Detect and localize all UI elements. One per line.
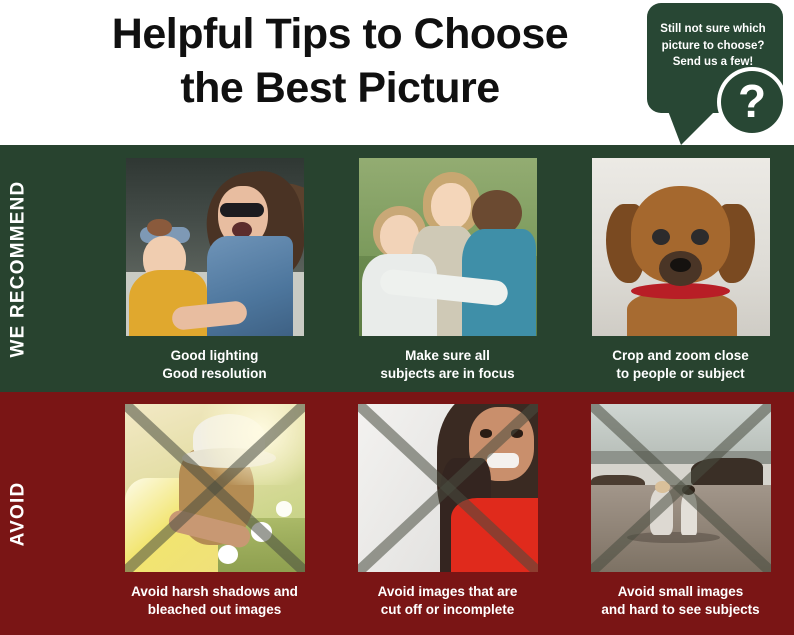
caption-line-2: bleached out images bbox=[110, 601, 320, 619]
recommend-card-2: Make sure all subjects are in focus bbox=[335, 145, 560, 392]
photo-girl-in-sunny-field bbox=[125, 404, 305, 572]
recommend-card-1: Good lighting Good resolution bbox=[102, 145, 327, 392]
section-avoid: AVOID Avoid harsh sha bbox=[0, 392, 794, 635]
avoid-caption-1: Avoid harsh shadows and bleached out ima… bbox=[110, 583, 320, 619]
caption-line-2: and hard to see subjects bbox=[576, 601, 786, 619]
speech-bubble-line-3: Send us a few! bbox=[653, 54, 773, 71]
caption-line-1: Avoid small images bbox=[576, 583, 786, 601]
caption-line-2: cut off or incomplete bbox=[343, 601, 553, 619]
recommend-card-3: Crop and zoom close to people or subject bbox=[568, 145, 793, 392]
avoid-card-3: Avoid small images and hard to see subje… bbox=[568, 392, 793, 635]
section-we-recommend: WE RECOMMEND Good lighting Good res bbox=[0, 145, 794, 392]
infographic-page: Helpful Tips to Choose the Best Picture … bbox=[0, 0, 794, 635]
photo-mother-and-baby bbox=[126, 158, 304, 336]
recommend-caption-1: Good lighting Good resolution bbox=[110, 347, 320, 383]
header: Helpful Tips to Choose the Best Picture … bbox=[0, 0, 794, 145]
speech-bubble-callout: Still not sure which picture to choose? … bbox=[645, 3, 790, 143]
caption-line-2: subjects are in focus bbox=[343, 365, 553, 383]
avoid-card-row: Avoid harsh shadows and bleached out ima… bbox=[36, 392, 794, 635]
photo-puppy bbox=[592, 158, 770, 336]
caption-line-1: Make sure all bbox=[343, 347, 553, 365]
page-title-line-2: the Best Picture bbox=[40, 62, 640, 116]
page-title: Helpful Tips to Choose the Best Picture bbox=[40, 8, 640, 116]
photo-three-children-hugging bbox=[359, 158, 537, 336]
speech-bubble-line-1: Still not sure which bbox=[653, 21, 773, 38]
caption-line-1: Avoid images that are bbox=[343, 583, 553, 601]
rail-label-we-recommend: WE RECOMMEND bbox=[0, 145, 36, 392]
recommend-caption-3: Crop and zoom close to people or subject bbox=[576, 347, 786, 383]
question-mark-icon: ? bbox=[721, 71, 783, 133]
question-mark-glyph: ? bbox=[721, 71, 783, 133]
rail-label-avoid: AVOID bbox=[0, 392, 36, 635]
recommend-card-row: Good lighting Good resolution bbox=[36, 145, 794, 392]
caption-line-1: Crop and zoom close bbox=[576, 347, 786, 365]
page-title-line-1: Helpful Tips to Choose bbox=[40, 8, 640, 62]
rail-text: AVOID bbox=[7, 481, 29, 546]
speech-bubble-line-2: picture to choose? bbox=[653, 38, 773, 55]
speech-bubble-tail-icon bbox=[665, 103, 723, 145]
photo-girl-cut-off bbox=[358, 404, 538, 572]
avoid-caption-3: Avoid small images and hard to see subje… bbox=[576, 583, 786, 619]
photo-distant-beach-subjects bbox=[591, 404, 771, 572]
rail-text: WE RECOMMEND bbox=[7, 180, 29, 357]
caption-line-2: to people or subject bbox=[576, 365, 786, 383]
avoid-card-2: Avoid images that are cut off or incompl… bbox=[335, 392, 560, 635]
recommend-caption-2: Make sure all subjects are in focus bbox=[343, 347, 553, 383]
caption-line-2: Good resolution bbox=[110, 365, 320, 383]
caption-line-1: Avoid harsh shadows and bbox=[110, 583, 320, 601]
avoid-card-1: Avoid harsh shadows and bleached out ima… bbox=[102, 392, 327, 635]
caption-line-1: Good lighting bbox=[110, 347, 320, 365]
speech-bubble-text: Still not sure which picture to choose? … bbox=[653, 21, 773, 71]
avoid-caption-2: Avoid images that are cut off or incompl… bbox=[343, 583, 553, 619]
